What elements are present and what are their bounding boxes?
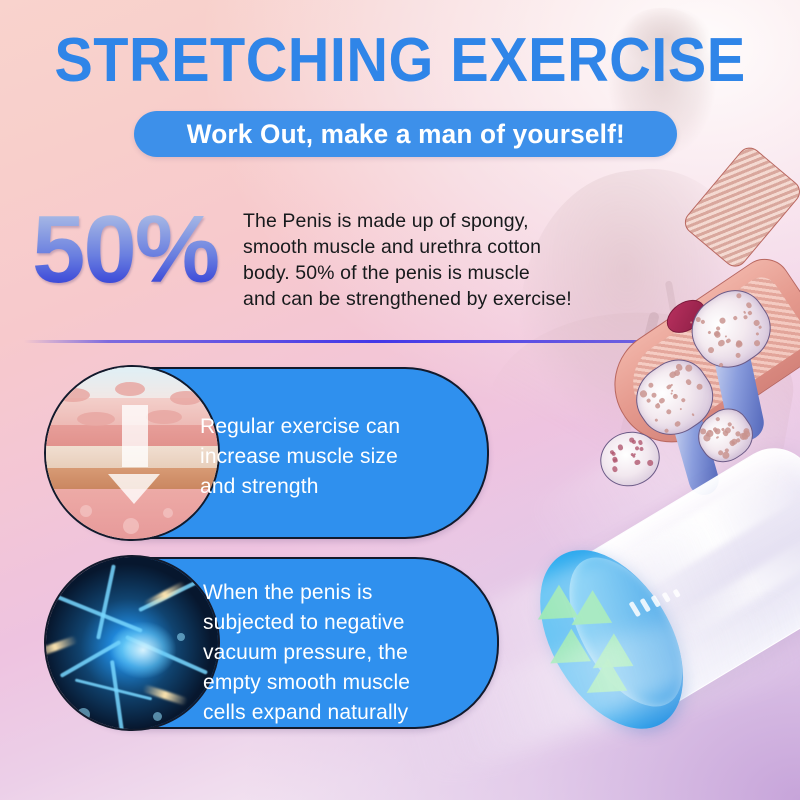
anatomy-spongy-dot xyxy=(632,454,636,458)
skin-bump xyxy=(170,391,202,405)
anatomy-spongy-dot xyxy=(707,330,712,335)
anatomy-spongy-dot xyxy=(663,428,669,434)
anatomy-spongy-dot xyxy=(743,310,747,314)
feature-line: When the penis is xyxy=(203,578,493,608)
neuron-particle xyxy=(177,633,185,641)
anatomy-spongy-dot xyxy=(638,440,644,446)
anatomy-spongy-dot xyxy=(611,466,618,473)
skin-follicle xyxy=(80,505,92,517)
anatomy-spongy-dot xyxy=(717,339,726,348)
neuron-particle xyxy=(153,712,162,721)
neuron-flare xyxy=(44,635,78,658)
anatomy-spongy-dot xyxy=(684,363,694,373)
stat-percentage: 50% xyxy=(32,196,218,304)
skin-bump xyxy=(146,410,182,424)
anatomy-spongy-dot xyxy=(639,446,644,451)
tagline-badge-label: Work Out, make a man of yourself! xyxy=(186,119,624,150)
stat-paragraph-line: The Penis is made up of spongy, xyxy=(243,208,643,234)
anatomy-spongy-dot xyxy=(734,351,742,359)
neuron-nucleus xyxy=(101,614,185,686)
feature-card-2-text: When the penis is subjected to negative … xyxy=(203,578,493,728)
anatomy-shaft-tail xyxy=(680,143,800,272)
anatomy-spongy-dot xyxy=(645,398,651,404)
anatomy-spongy-dot xyxy=(681,398,687,404)
anatomy-spongy-dot xyxy=(718,362,724,368)
anatomy-spongy-dot xyxy=(674,420,682,428)
anatomy-spongy-dot xyxy=(679,408,682,411)
feature-line: cells expand naturally xyxy=(203,698,493,728)
anatomy-spongy-dot xyxy=(733,315,738,320)
skin-follicle xyxy=(163,508,173,518)
feature-card-1-text: Regular exercise can increase muscle siz… xyxy=(200,412,470,502)
skin-arrow-head-icon xyxy=(108,474,160,504)
skin-layers-image xyxy=(46,367,218,539)
anatomy-spongy-dot xyxy=(742,314,747,319)
anatomy-spongy-dot xyxy=(700,319,705,324)
anatomy-spongy-dot xyxy=(753,339,761,347)
anatomy-spongy-dot xyxy=(745,301,753,309)
anatomy-spongy-dot xyxy=(755,332,760,337)
anatomy-spongy-dot xyxy=(634,459,641,466)
anatomy-spongy-dot xyxy=(735,341,743,349)
skin-arrow-icon xyxy=(122,405,148,467)
skin-bump xyxy=(77,412,115,426)
neuron-cell-icon xyxy=(44,555,220,731)
neuron-cell-image xyxy=(46,557,218,729)
feature-line: Regular exercise can xyxy=(200,412,470,442)
anatomy-spongy-dot xyxy=(639,389,648,398)
anatomy-spongy-dot xyxy=(718,317,726,325)
anatomy-spongy-dot xyxy=(685,379,692,386)
anatomy-spongy-dot xyxy=(736,292,743,299)
anatomy-spongy-dot xyxy=(650,392,657,399)
feature-line: subjected to negative xyxy=(203,608,493,638)
neuron-flare xyxy=(143,581,187,610)
anatomy-spongy-dot xyxy=(696,383,704,391)
anatomy-spongy-dot xyxy=(617,444,624,451)
stat-paragraph-line: body. 50% of the penis is muscle xyxy=(243,260,643,286)
anatomy-spongy-dot xyxy=(747,311,752,316)
anatomy-spongy-dot xyxy=(671,389,674,392)
stat-paragraph: The Penis is made up of spongy, smooth m… xyxy=(243,208,643,312)
anatomy-spongy-dot xyxy=(724,335,727,338)
stat-paragraph-line: smooth muscle and urethra cotton xyxy=(243,234,643,260)
neuron-flare xyxy=(142,684,188,706)
page-title: STRETCHING EXERCISE xyxy=(28,28,772,94)
anatomy-spongy-dot xyxy=(691,413,695,417)
feature-line: empty smooth muscle xyxy=(203,668,493,698)
anatomy-spongy-dot xyxy=(665,408,672,415)
anatomy-spongy-dot xyxy=(758,326,761,329)
poster-root: STRETCHING EXERCISE Work Out, make a man… xyxy=(0,0,800,800)
anatomy-spongy-dot xyxy=(646,459,653,466)
feature-line: vacuum pressure, the xyxy=(203,638,493,668)
skin-layers-icon xyxy=(44,365,220,541)
anatomy-spongy-dot xyxy=(706,346,714,354)
anatomy-spongy-dot xyxy=(725,338,732,345)
feature-line: increase muscle size xyxy=(200,442,470,472)
anatomy-spongy-dot xyxy=(654,403,661,410)
skin-bump xyxy=(56,388,90,402)
anatomy-spongy-dot xyxy=(715,416,720,421)
feature-line: and strength xyxy=(200,472,470,502)
anatomy-spongy-dot xyxy=(631,440,636,445)
anatomy-spongy-dot xyxy=(690,321,693,324)
anatomy-spongy-dot xyxy=(647,382,654,389)
tagline-badge: Work Out, make a man of yourself! xyxy=(134,111,677,157)
anatomy-spongy-dot xyxy=(654,418,659,423)
neuron-particle xyxy=(77,708,90,721)
